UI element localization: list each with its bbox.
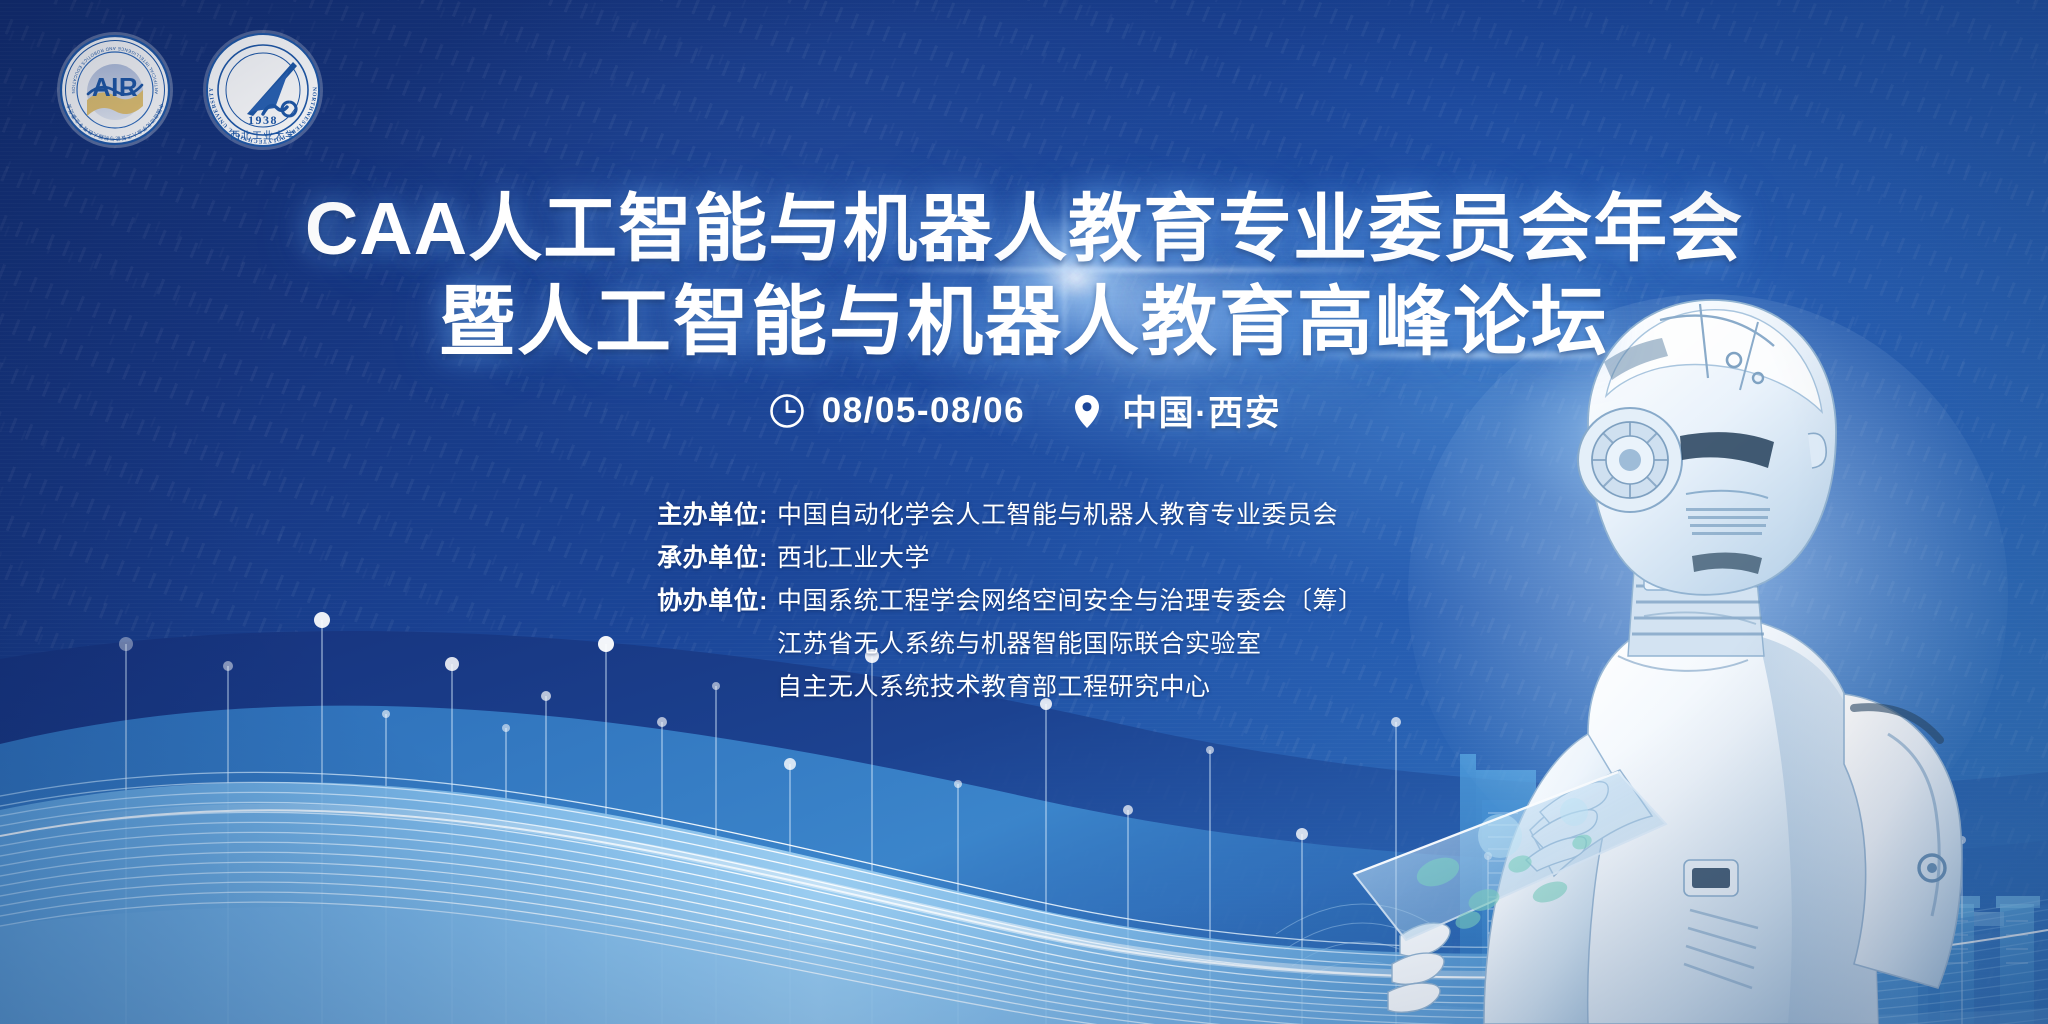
- logo-group: AIR 中国自动化学会人工智能与机器人教育专业委员会 ARTIFICIAL IN…: [55, 28, 325, 157]
- air-committee-logo: AIR 中国自动化学会人工智能与机器人教育专业委员会 ARTIFICIAL IN…: [55, 30, 175, 155]
- organizer-row: 承办单位: 西北工业大学: [618, 538, 1430, 578]
- organizer-row: 江苏省无人系统与机器智能国际联合实验室: [618, 624, 1430, 664]
- organizer-value: 中国自动化学会人工智能与机器人教育专业委员会: [777, 495, 1338, 535]
- organizer-value: 自主无人系统技术教育部工程研究中心: [777, 667, 1211, 707]
- conference-poster: AIR 中国自动化学会人工智能与机器人教育专业委员会 ARTIFICIAL IN…: [0, 0, 2048, 1024]
- clock-icon: [767, 391, 807, 431]
- title-line-1: CAA人工智能与机器人教育专业委员会年会: [0, 182, 2048, 276]
- organizer-row: 协办单位: 中国系统工程学会网络空间安全与治理专委会〔筹〕: [618, 581, 1430, 621]
- svg-text:西北工业大学: 西北工业大学: [230, 129, 296, 142]
- npu-university-logo: 1938 NORTHWESTERN POLYTECHNICAL UNIVERSI…: [201, 28, 325, 157]
- organizer-label: 承办单位:: [618, 538, 768, 578]
- event-date-item: 08/05-08/06: [767, 391, 1025, 431]
- event-location: 中国·西安: [1122, 385, 1281, 436]
- organizer-list: 主办单位: 中国自动化学会人工智能与机器人教育专业委员会 承办单位: 西北工业大…: [0, 495, 2048, 710]
- poster-title: CAA人工智能与机器人教育专业委员会年会 暨人工智能与机器人教育高峰论坛: [0, 182, 2048, 370]
- organizer-label: 主办单位:: [618, 495, 768, 535]
- location-pin-icon: [1067, 391, 1107, 431]
- event-meta-row: 08/05-08/06 中国·西安: [0, 385, 2048, 436]
- title-line-2: 暨人工智能与机器人教育高峰论坛: [0, 276, 2048, 370]
- organizer-value: 中国系统工程学会网络空间安全与治理专委会〔筹〕: [777, 581, 1364, 621]
- svg-text:AIR: AIR: [92, 72, 138, 102]
- organizer-label: 协办单位:: [618, 581, 768, 621]
- svg-text:1938: 1938: [248, 113, 278, 127]
- organizer-row: 自主无人系统技术教育部工程研究中心: [618, 667, 1430, 707]
- event-location-item: 中国·西安: [1067, 385, 1281, 436]
- event-date: 08/05-08/06: [822, 391, 1025, 431]
- organizer-row: 主办单位: 中国自动化学会人工智能与机器人教育专业委员会: [618, 495, 1430, 535]
- organizer-value: 西北工业大学: [777, 538, 930, 578]
- organizer-value: 江苏省无人系统与机器智能国际联合实验室: [777, 624, 1262, 664]
